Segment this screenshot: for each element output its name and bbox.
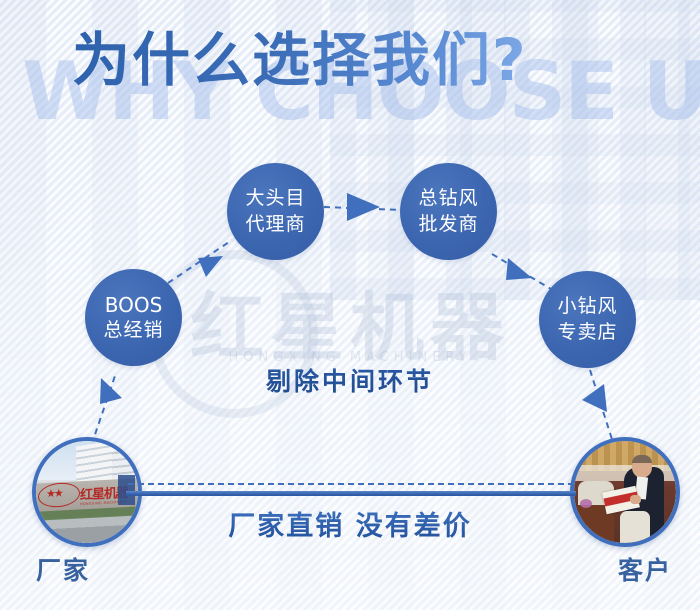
chain-node-boos: BOOS 总经销 [85, 269, 182, 366]
chain-node-wholesaler-line2: 批发商 [418, 212, 478, 237]
direct-link-dashed-line [128, 483, 574, 485]
chain-node-wholesaler-line1: 总钻风 [418, 186, 478, 211]
chain-node-boos-line1: BOOS [105, 292, 163, 318]
chain-node-agent: 大头目 代理商 [227, 163, 324, 260]
label-factory: 厂家 [36, 551, 90, 587]
direct-link-solid-line [126, 491, 576, 496]
bottom-slogan: 厂家直销 没有差价 [0, 504, 700, 543]
client-person-hair [632, 455, 652, 463]
chain-node-agent-line2: 代理商 [245, 212, 305, 237]
factory-blue-door [118, 475, 135, 505]
chain-node-agent-line1: 大头目 [245, 186, 305, 211]
star-icon: ★★ [46, 487, 62, 501]
middle-slogan: 剔除中间环节 [0, 362, 700, 398]
chain-node-wholesaler: 总钻风 批发商 [400, 163, 497, 260]
promo-banner: 红星机器 HONGXING MACHINERY WHY CHOOSE US 为什… [0, 0, 700, 610]
label-client: 客户 [618, 551, 672, 587]
chain-node-boos-line2: 总经销 [103, 318, 163, 343]
page-title: 为什么选择我们? [72, 30, 672, 91]
chain-node-shop-line2: 专卖店 [557, 320, 617, 345]
client-person-hand [630, 495, 641, 504]
chain-node-shop: 小钻风 专卖店 [539, 271, 636, 368]
chain-node-shop-line1: 小钻风 [557, 294, 617, 319]
